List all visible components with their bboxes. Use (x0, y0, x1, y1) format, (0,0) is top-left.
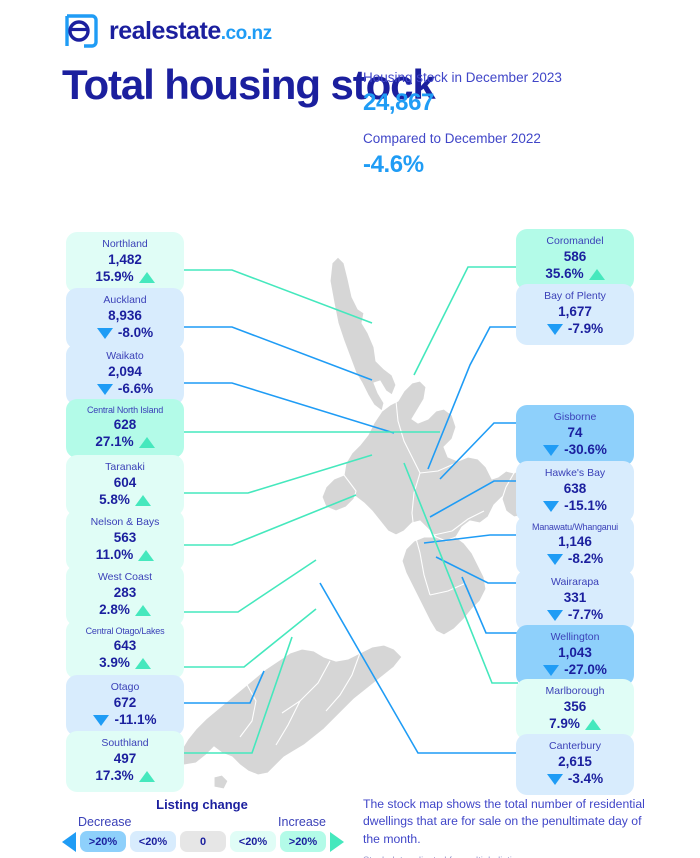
triangle-up-icon (135, 495, 151, 506)
region-stock-value: 672 (75, 694, 175, 712)
triangle-down-icon (93, 715, 109, 726)
region-change-value: 7.9% (549, 716, 580, 733)
region-change: -30.6% (525, 442, 625, 459)
region-change-value: -8.2% (568, 551, 603, 568)
region-callout[interactable]: Wellington1,043-27.0% (516, 625, 634, 686)
triangle-down-icon (97, 328, 113, 339)
region-stock-value: 2,615 (525, 753, 625, 771)
triangle-up-icon (139, 771, 155, 782)
region-stock-value: 74 (525, 424, 625, 442)
region-stock-value: 586 (525, 248, 625, 266)
region-change: -8.0% (75, 325, 175, 342)
region-stock-value: 8,936 (75, 307, 175, 325)
region-name: Hawke's Bay (525, 467, 625, 480)
region-change-value: -11.1% (114, 712, 156, 729)
region-change-value: -7.7% (568, 607, 603, 624)
region-name: Taranaki (75, 461, 175, 474)
region-callout[interactable]: Southland49717.3% (66, 731, 184, 792)
region-stock-value: 1,482 (75, 251, 175, 269)
legend-chip: >20% (80, 831, 126, 852)
triangle-down-icon (547, 324, 563, 335)
region-change: -3.4% (525, 771, 625, 788)
triangle-up-icon (135, 605, 151, 616)
region-name: Central North Island (75, 405, 175, 416)
region-name: Northland (75, 238, 175, 251)
region-callout[interactable]: Central Otago/Lakes6433.9% (66, 620, 184, 679)
region-change: 2.8% (75, 602, 175, 619)
region-change: -7.7% (525, 607, 625, 624)
region-stock-value: 604 (75, 474, 175, 492)
region-change-value: -15.1% (564, 498, 607, 515)
region-stock-value: 628 (75, 416, 175, 434)
region-change-value: -27.0% (564, 662, 607, 679)
region-callout[interactable]: Nelson & Bays56311.0% (66, 510, 184, 571)
region-stock-value: 497 (75, 750, 175, 768)
legend-chip: <20% (230, 831, 276, 852)
legend-decrease-label: Decrease (78, 815, 132, 829)
region-name: Manawatu/Whanganui (525, 522, 625, 533)
region-name: Marlborough (525, 685, 625, 698)
region-change-value: -8.0% (118, 325, 153, 342)
region-callout[interactable]: Taranaki6045.8% (66, 455, 184, 516)
region-change-value: -6.6% (118, 381, 153, 398)
brand-wordmark: realestate.co.nz (109, 19, 272, 44)
stat-value-comparison: -4.6% (363, 150, 562, 180)
region-callout[interactable]: Bay of Plenty1,677-7.9% (516, 284, 634, 345)
region-change-value: -30.6% (564, 442, 607, 459)
region-name: Canterbury (525, 740, 625, 753)
region-stock-value: 2,094 (75, 363, 175, 381)
region-stock-value: 1,043 (525, 644, 625, 662)
region-stock-value: 356 (525, 698, 625, 716)
region-change: 15.9% (75, 269, 175, 286)
region-change-value: 5.8% (99, 492, 130, 509)
region-name: Southland (75, 737, 175, 750)
region-name: Bay of Plenty (525, 290, 625, 303)
region-name: West Coast (75, 571, 175, 584)
realestate-logo-icon (62, 12, 100, 50)
legend: Listing change Decrease Increase >20%<20… (62, 797, 342, 852)
arrow-left-icon (62, 832, 76, 852)
region-callout[interactable]: Wairarapa331-7.7% (516, 570, 634, 631)
footer-description: The stock map shows the total number of … (363, 796, 648, 848)
region-callout[interactable]: Canterbury2,615-3.4% (516, 734, 634, 795)
triangle-down-icon (543, 501, 559, 512)
region-change-value: -7.9% (568, 321, 603, 338)
region-change: 11.0% (75, 547, 175, 564)
region-change-value: 11.0% (96, 547, 134, 564)
region-change-value: 15.9% (95, 269, 133, 286)
infographic-page: realestate.co.nz Total housing stock Hou… (0, 0, 700, 858)
region-change-value: 35.6% (545, 266, 583, 283)
legend-title: Listing change (62, 797, 342, 812)
stat-label-comparison: Compared to December 2022 (363, 129, 562, 149)
triangle-down-icon (97, 384, 113, 395)
region-name: Nelson & Bays (75, 516, 175, 529)
region-change: -6.6% (75, 381, 175, 398)
brand-logo: realestate.co.nz (62, 12, 272, 50)
region-callout[interactable]: Waikato2,094-6.6% (66, 344, 184, 405)
legend-chip: >20% (280, 831, 326, 852)
region-name: Coromandel (525, 235, 625, 248)
region-name: Wellington (525, 631, 625, 644)
region-change-value: 17.3% (95, 768, 133, 785)
stat-label-current: Housing stock in December 2023 (363, 68, 562, 88)
region-change-value: 2.8% (99, 602, 130, 619)
legend-chip: <20% (130, 831, 176, 852)
region-name: Gisborne (525, 411, 625, 424)
stat-value-current: 24,867 (363, 88, 562, 118)
region-change: -15.1% (525, 498, 625, 515)
region-callout[interactable]: Hawke's Bay638-15.1% (516, 461, 634, 522)
triangle-down-icon (543, 445, 559, 456)
region-callout[interactable]: Central North Island62827.1% (66, 399, 184, 458)
region-callout[interactable]: Gisborne74-30.6% (516, 405, 634, 466)
triangle-down-icon (543, 665, 559, 676)
region-stock-value: 563 (75, 529, 175, 547)
region-stock-value: 331 (525, 589, 625, 607)
headline-stats: Housing stock in December 2023 24,867 Co… (363, 68, 562, 180)
region-callout[interactable]: Marlborough3567.9% (516, 679, 634, 740)
region-name: Auckland (75, 294, 175, 307)
legend-scale: >20%<20%0<20%>20% (62, 831, 342, 852)
region-change-value: 3.9% (99, 655, 130, 672)
region-callout[interactable]: Coromandel58635.6% (516, 229, 634, 290)
region-name: Wairarapa (525, 576, 625, 589)
footer-note: The stock map shows the total number of … (363, 796, 648, 858)
triangle-down-icon (547, 774, 563, 785)
region-change: 35.6% (525, 266, 625, 283)
triangle-up-icon (138, 550, 154, 561)
triangle-up-icon (585, 719, 601, 730)
triangle-down-icon (547, 610, 563, 621)
triangle-up-icon (139, 437, 155, 448)
region-change: -11.1% (75, 712, 175, 729)
region-callout[interactable]: Manawatu/Whanganui1,146-8.2% (516, 516, 634, 575)
region-change: 17.3% (75, 768, 175, 785)
region-stock-value: 283 (75, 584, 175, 602)
region-change-value: 27.1% (95, 434, 133, 451)
region-change: -7.9% (525, 321, 625, 338)
region-change: 7.9% (525, 716, 625, 733)
region-change: 3.9% (75, 655, 175, 672)
region-name: Otago (75, 681, 175, 694)
region-stock-value: 1,677 (525, 303, 625, 321)
region-change: -8.2% (525, 551, 625, 568)
region-change: 5.8% (75, 492, 175, 509)
region-change: 27.1% (75, 434, 175, 451)
region-change: -27.0% (525, 662, 625, 679)
triangle-up-icon (135, 658, 151, 669)
region-name: Central Otago/Lakes (75, 626, 175, 637)
region-stock-value: 643 (75, 637, 175, 655)
region-change-value: -3.4% (568, 771, 603, 788)
triangle-up-icon (139, 272, 155, 283)
map-landmass (178, 257, 546, 789)
legend-increase-label: Increase (278, 815, 326, 829)
region-stock-value: 638 (525, 480, 625, 498)
triangle-down-icon (547, 554, 563, 565)
arrow-right-icon (330, 832, 344, 852)
region-callout[interactable]: Northland1,48215.9% (66, 232, 184, 293)
triangle-up-icon (589, 269, 605, 280)
region-callout[interactable]: Auckland8,936-8.0% (66, 288, 184, 349)
region-stock-value: 1,146 (525, 533, 625, 551)
region-name: Waikato (75, 350, 175, 363)
region-callout[interactable]: Otago672-11.1% (66, 675, 184, 736)
region-callout[interactable]: West Coast2832.8% (66, 565, 184, 626)
legend-chip: 0 (180, 831, 226, 852)
